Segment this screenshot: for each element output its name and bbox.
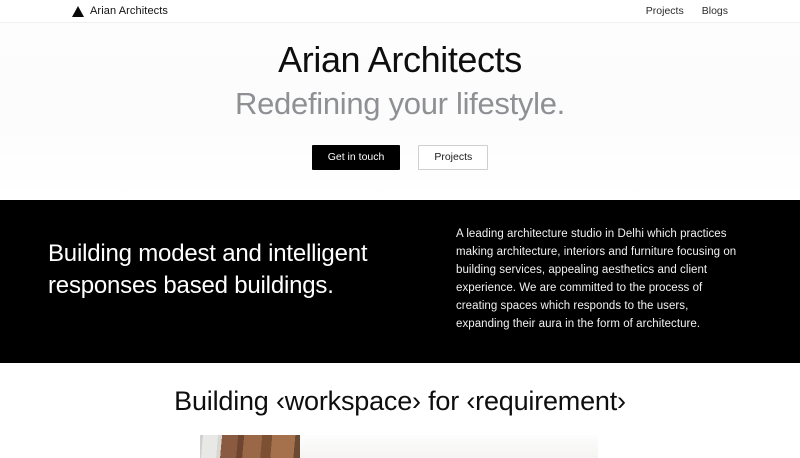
hero-subtitle: Redefining your lifestyle.	[235, 86, 565, 122]
chevron-left-icon: ‹	[276, 386, 285, 416]
section-tag-requirement: requirement	[475, 386, 617, 416]
chevron-right-icon-2: ›	[617, 386, 626, 416]
interior-photo-image	[200, 435, 598, 458]
section-title: Building ‹workspace› for ‹requirement›	[0, 385, 800, 417]
triangle-logo-icon	[72, 6, 84, 17]
primary-nav: Projects Blogs	[646, 6, 728, 17]
chevron-right-icon: ›	[412, 386, 421, 416]
hero-title: Arian Architects	[278, 39, 522, 80]
projects-button[interactable]: Projects	[418, 145, 488, 170]
statement-band: Building modest and intelligent response…	[0, 200, 800, 363]
section-tag-workspace: workspace	[285, 386, 412, 416]
chevron-left-icon-2: ‹	[466, 386, 475, 416]
statement-heading: Building modest and intelligent response…	[48, 238, 408, 301]
section-title-part2: for	[428, 386, 459, 416]
landing-page: Arian Architects Projects Blogs Arian Ar…	[0, 0, 800, 458]
hero-section: Arian Architects Redefining your lifesty…	[0, 23, 800, 200]
interior-photo	[200, 435, 598, 458]
section-title-part1: Building	[174, 386, 268, 416]
nav-link-blogs[interactable]: Blogs	[702, 6, 728, 17]
get-in-touch-button[interactable]: Get in touch	[312, 145, 401, 170]
nav-link-projects[interactable]: Projects	[646, 6, 684, 17]
site-header: Arian Architects Projects Blogs	[0, 0, 800, 23]
ceiling-highlight	[300, 435, 598, 458]
brand-name: Arian Architects	[90, 6, 168, 17]
hero-actions: Get in touch Projects	[312, 145, 489, 170]
brand-logo[interactable]: Arian Architects	[72, 6, 168, 17]
statement-body: A leading architecture studio in Delhi w…	[456, 226, 752, 334]
